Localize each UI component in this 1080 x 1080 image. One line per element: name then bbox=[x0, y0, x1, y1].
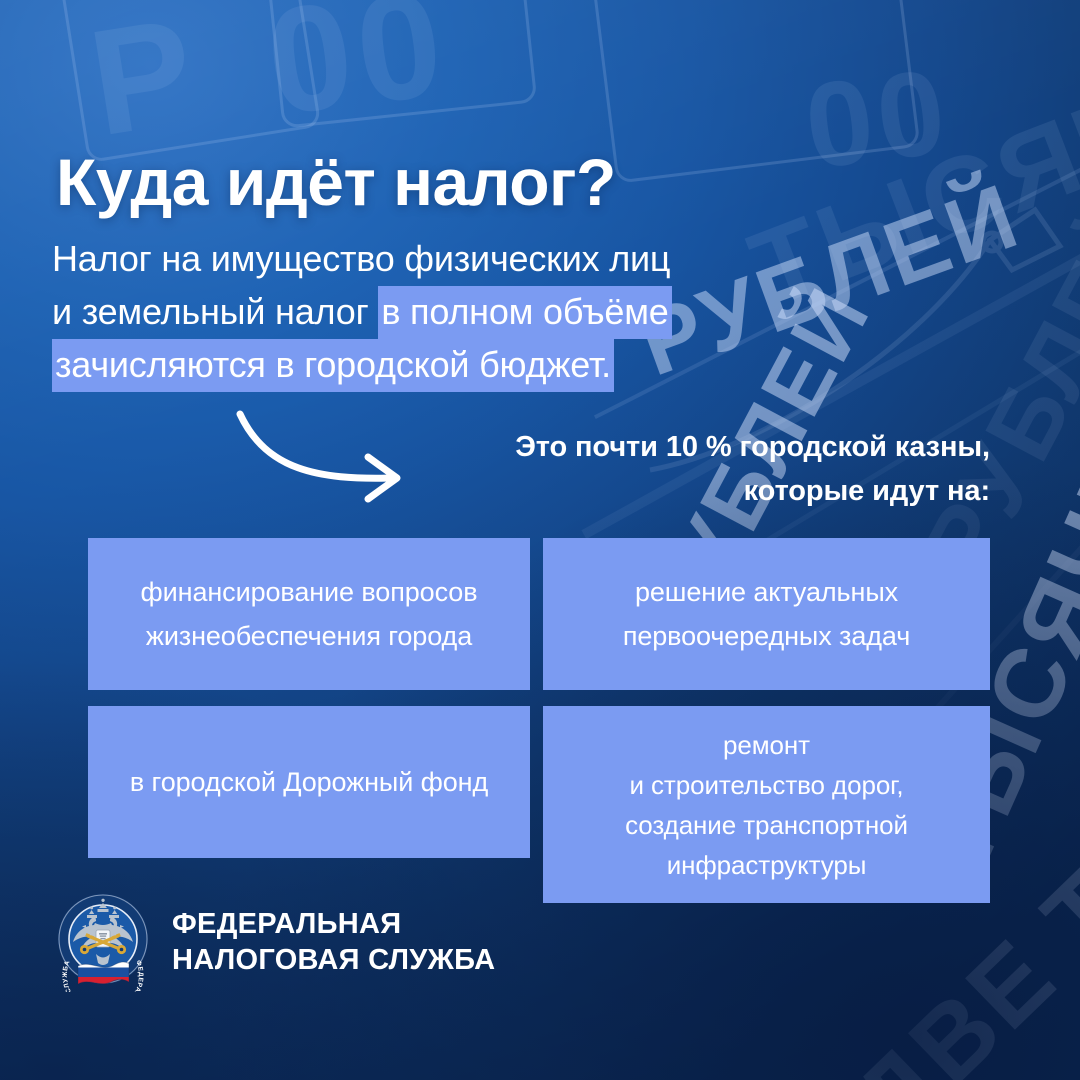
lede-line-1: Налог на имущество физических лиц bbox=[52, 232, 792, 285]
lede-line-3: зачисляются в городской бюджет. bbox=[52, 338, 792, 391]
org-name: ФЕДЕРАЛЬНАЯ НАЛОГОВАЯ СЛУЖБА bbox=[172, 906, 495, 978]
org-name-line-2: НАЛОГОВАЯ СЛУЖБА bbox=[172, 942, 495, 978]
purpose-box-priority-tasks[interactable]: решение актуальных первоочередных задач bbox=[543, 538, 990, 690]
purpose-box-line: и строительство дорог, bbox=[625, 765, 908, 805]
curved-arrow-icon bbox=[232, 408, 422, 503]
lede-line-2: и земельный налог в полном объёме bbox=[52, 285, 792, 338]
purpose-box-line: инфраструктуры bbox=[625, 845, 908, 885]
org-name-line-1: ФЕДЕРАЛЬНАЯ bbox=[172, 906, 495, 942]
lede-line-3-highlight: зачисляются в городской бюджет. bbox=[52, 339, 614, 392]
footer: ФЕДЕРАЛЬНАЯ НАЛОГОВАЯ СЛУЖБА bbox=[56, 892, 495, 992]
lede-paragraph: Налог на имущество физических лиц и земе… bbox=[52, 232, 792, 391]
lede-line-2-plain: и земельный налог bbox=[52, 291, 378, 332]
purpose-box-line: первоочередных задач bbox=[623, 614, 910, 658]
callout-line-1: Это почти 10 % городской казны, bbox=[420, 425, 990, 469]
purpose-box-line: создание транспортной bbox=[625, 805, 908, 845]
purpose-box-line: в городской Дорожный фонд bbox=[130, 760, 488, 804]
purpose-box-line: ремонт bbox=[625, 725, 908, 765]
fns-emblem-icon: ФЕДЕРАЛЬНАЯ НАЛОГОВАЯ СЛУЖБА bbox=[56, 892, 150, 992]
purpose-box-city-life-support[interactable]: финансирование вопросов жизнеобеспечения… bbox=[88, 538, 530, 690]
callout-line-2: которые идут на: bbox=[420, 469, 990, 513]
page-title: Куда идёт налог? bbox=[56, 148, 616, 217]
purpose-box-line: финансирование вопросов bbox=[141, 570, 478, 614]
lede-line-2-highlight: в полном объёме bbox=[378, 286, 671, 339]
purpose-box-line: жизнеобеспечения города bbox=[141, 614, 478, 658]
callout-text: Это почти 10 % городской казны, которые … bbox=[420, 425, 990, 513]
purpose-box-line: решение актуальных bbox=[623, 570, 910, 614]
purpose-box-road-construction[interactable]: ремонт и строительство дорог, создание т… bbox=[543, 706, 990, 903]
poster-canvas: Р 00 00 ТЫСЯЧИ РУБЛЕЙ РУБЛЕЙ РУБЛЕЙ ТЫСЯ… bbox=[0, 0, 1080, 1080]
purpose-box-road-fund[interactable]: в городской Дорожный фонд bbox=[88, 706, 530, 858]
